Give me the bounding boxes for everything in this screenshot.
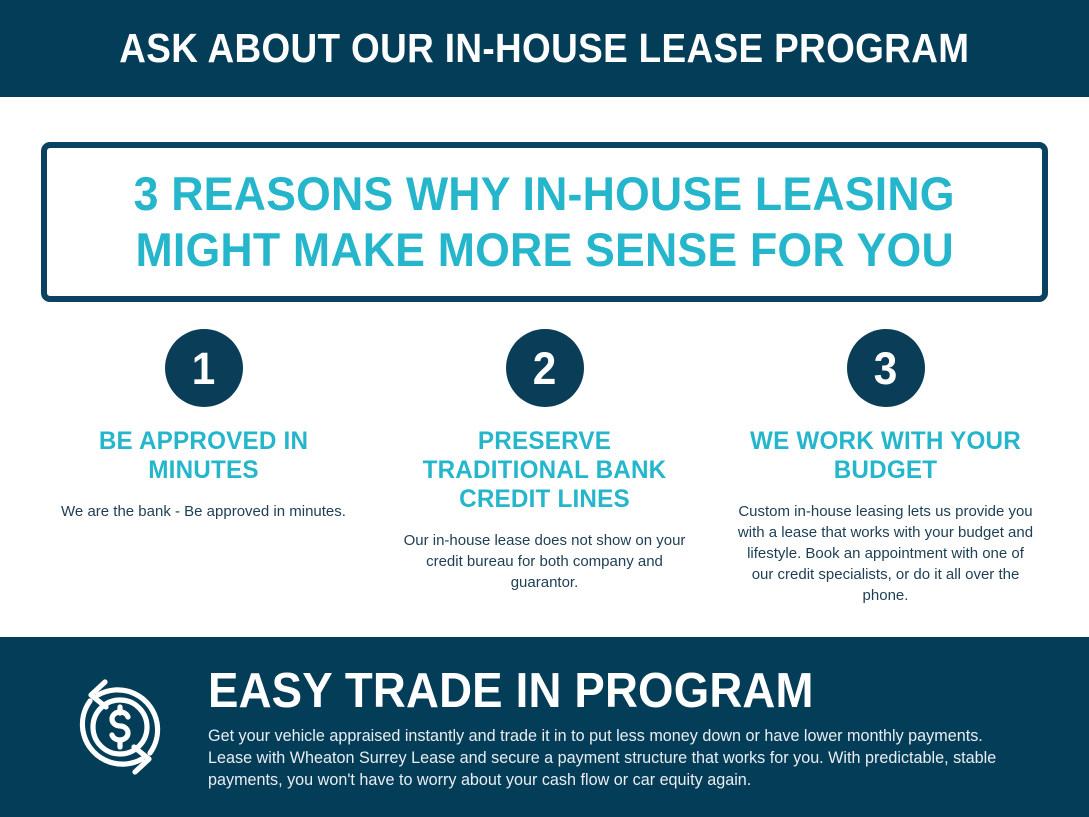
reason-body-2: Our in-house lease does not show on your… — [396, 530, 693, 593]
header-banner: ASK ABOUT OUR IN-HOUSE LEASE PROGRAM — [0, 0, 1089, 97]
headline-line-1: 3 REASONS WHY IN-HOUSE LEASING — [134, 166, 955, 222]
reason-title-2: PRESERVE TRADITIONAL BANK CREDIT LINES — [400, 427, 688, 514]
reason-title-3: WE WORK WITH YOUR BUDGET — [741, 427, 1029, 485]
reason-column-2: 2 PRESERVE TRADITIONAL BANK CREDIT LINES… — [374, 329, 715, 593]
footer-banner: EASY TRADE IN PROGRAM Get your vehicle a… — [0, 637, 1089, 817]
number-badge-1-label: 1 — [192, 346, 216, 391]
reason-title-1: BE APPROVED IN MINUTES — [59, 427, 347, 485]
header-title: ASK ABOUT OUR IN-HOUSE LEASE PROGRAM — [119, 28, 969, 69]
footer-paragraph: Get your vehicle appraised instantly and… — [208, 725, 1012, 791]
reason-body-1: We are the bank - Be approved in minutes… — [61, 501, 346, 522]
headline-box: 3 REASONS WHY IN-HOUSE LEASING MIGHT MAK… — [41, 142, 1048, 302]
headline-line-2: MIGHT MAKE MORE SENSE FOR YOU — [135, 222, 953, 278]
number-badge-2: 2 — [506, 329, 584, 407]
number-badge-2-label: 2 — [533, 346, 557, 391]
number-badge-3: 3 — [847, 329, 925, 407]
number-badge-3-label: 3 — [874, 346, 898, 391]
reason-column-1: 1 BE APPROVED IN MINUTES We are the bank… — [33, 329, 374, 522]
reason-column-3: 3 WE WORK WITH YOUR BUDGET Custom in-hou… — [715, 329, 1056, 606]
footer-title: EASY TRADE IN PROGRAM — [208, 664, 990, 718]
number-badge-1: 1 — [165, 329, 243, 407]
infographic-page: ASK ABOUT OUR IN-HOUSE LEASE PROGRAM 3 R… — [0, 0, 1089, 817]
footer-text-block: EASY TRADE IN PROGRAM Get your vehicle a… — [208, 664, 1049, 791]
reasons-row: 1 BE APPROVED IN MINUTES We are the bank… — [0, 329, 1089, 606]
dollar-cycle-icon — [58, 665, 182, 789]
reason-body-3: Custom in-house leasing lets us provide … — [737, 501, 1034, 606]
main-content: 3 REASONS WHY IN-HOUSE LEASING MIGHT MAK… — [0, 97, 1089, 637]
